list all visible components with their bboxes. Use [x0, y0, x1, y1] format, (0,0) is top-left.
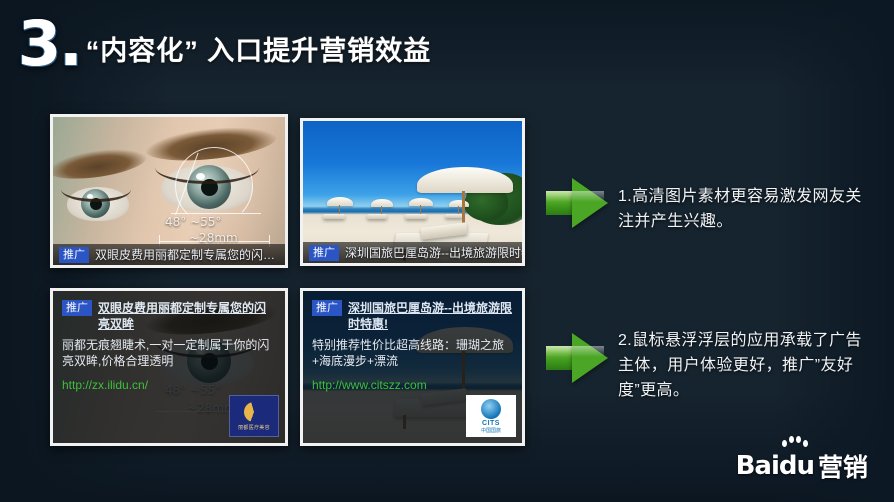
ad-bar[interactable]: 推广 深圳国旅巴厘岛游--出境旅游限时特惠! — [303, 242, 522, 263]
ad-url[interactable]: http://www.citszz.com — [312, 377, 512, 393]
width-label: ~28mm — [189, 231, 238, 245]
arrow-right-icon-1 — [546, 178, 608, 228]
paw-icon — [780, 435, 810, 451]
right-vignette — [774, 0, 894, 502]
baidu-wordmark: Baidu — [736, 451, 814, 481]
card-beach-thumbnail[interactable]: 推广 深圳国旅巴厘岛游--出境旅游限时特惠! — [300, 118, 525, 266]
logo-caption: 丽都医疗美容 — [238, 424, 270, 431]
ad-description: 丽都无痕翘睫术,一对一定制属于你的闪亮双眸,价格合理透明 — [62, 337, 275, 369]
advertiser-logo-lidu: 丽都医疗美容 — [229, 395, 279, 437]
hover-overlay[interactable]: 推广 深圳国旅巴厘岛游--出境旅游限时特惠! 特别推荐性价比超高线路：珊瑚之旅+… — [303, 291, 522, 443]
advertiser-logo-cits: CITS 中国国旅 — [466, 395, 516, 437]
slide-header: 3. “内容化” 入口提升营销效益 — [18, 16, 431, 72]
logo-caption: 中国国旅 — [481, 427, 501, 434]
page-title: “内容化” 入口提升营销效益 — [86, 36, 432, 72]
card-eye-thumbnail[interactable]: 48° ~55° ~28mm 推广 双眼皮费用丽都定制专属您的闪… — [50, 114, 288, 268]
baidu-marketing-logo: Baidu 营销 — [736, 448, 868, 484]
arrow-right-icon-2 — [546, 333, 608, 383]
section-number: 3. — [18, 16, 83, 72]
promo-badge: 推广 — [62, 300, 92, 316]
hover-overlay[interactable]: 推广 双眼皮费用丽都定制专属您的闪亮双眸 丽都无痕翘睫术,一对一定制属于你的闪亮… — [53, 291, 285, 443]
ad-description: 特别推荐性价比超高线路：珊瑚之旅+海底漫步+漂流 — [312, 337, 512, 369]
ad-title-text[interactable]: 深圳国旅巴厘岛游--出境旅游限时特惠! — [345, 244, 522, 261]
promo-badge: 推广 — [59, 247, 89, 263]
card-eye-hover[interactable]: 48° ~55° ~28mm 推广 双眼皮费用丽都定制专属您的闪亮双眸 丽都无痕… — [50, 288, 288, 446]
swirl-icon — [244, 402, 264, 422]
bullet-point-2: 2.鼠标悬浮浮层的应用承载了广告主体，用户体验更好，推广”友好度”更高。 — [618, 328, 876, 403]
ad-title-text[interactable]: 双眼皮费用丽都定制专属您的闪… — [95, 246, 275, 263]
globe-icon — [481, 399, 501, 419]
ad-title-link[interactable]: 双眼皮费用丽都定制专属您的闪亮双眸 — [98, 300, 275, 332]
eye-photo: 48° ~55° ~28mm — [53, 117, 285, 265]
logo-text: CITS — [482, 420, 500, 427]
slide-canvas: 3. “内容化” 入口提升营销效益 48° ~55° — [0, 0, 894, 502]
bullet-point-1: 1.高清图片素材更容易激发网友关注并产生兴趣。 — [618, 184, 868, 234]
promo-badge: 推广 — [312, 300, 342, 316]
ad-url[interactable]: http://zx.ilidu.cn/ — [62, 377, 275, 393]
promo-badge: 推广 — [309, 245, 339, 261]
ad-bar[interactable]: 推广 双眼皮费用丽都定制专属您的闪… — [53, 244, 285, 265]
angle-label: 48° ~55° — [165, 215, 221, 229]
ad-title-link[interactable]: 深圳国旅巴厘岛游--出境旅游限时特惠! — [348, 300, 512, 332]
card-beach-hover[interactable]: 推广 深圳国旅巴厘岛游--出境旅游限时特惠! 特别推荐性价比超高线路：珊瑚之旅+… — [300, 288, 525, 446]
baidu-chinese-text: 营销 — [818, 448, 868, 484]
